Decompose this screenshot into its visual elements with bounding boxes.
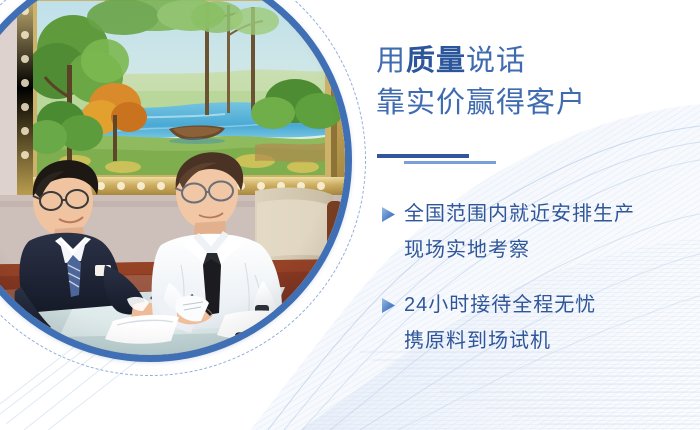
content-column: 用质量说话 靠实价赢得客户 <box>372 0 700 430</box>
feature-item-2-sub: 携原料到场试机 <box>372 323 700 359</box>
headline-divider <box>376 154 576 168</box>
divider-dark-bar <box>377 154 469 158</box>
headline: 用质量说话 靠实价赢得客户 <box>376 40 586 124</box>
feature-item-2-main: 24小时接待全程无忧 <box>404 287 596 323</box>
promo-banner: 用质量说话 靠实价赢得客户 <box>0 0 700 430</box>
feature-list: 全国范围内就近安排生产 现场实地考察 <box>372 196 700 378</box>
triangle-right-icon <box>372 196 404 232</box>
divider-light-bar <box>404 161 496 164</box>
feature-item-1-sub: 现场实地考察 <box>372 232 700 268</box>
headline-line-1-suffix: 说话 <box>466 45 526 77</box>
headline-line-1-strong: 质量 <box>406 45 466 77</box>
feature-item-1: 全国范围内就近安排生产 现场实地考察 <box>372 196 700 268</box>
triangle-right-icon <box>372 287 404 323</box>
headline-line-1: 用质量说话 <box>376 40 586 82</box>
photo-stage <box>0 0 352 362</box>
feature-item-1-main: 全国范围内就近安排生产 <box>404 196 635 232</box>
headline-line-2: 靠实价赢得客户 <box>376 82 586 124</box>
meeting-photo <box>0 0 345 355</box>
headline-line-1-prefix: 用 <box>376 45 406 77</box>
feature-item-2: 24小时接待全程无忧 携原料到场试机 <box>372 287 700 359</box>
